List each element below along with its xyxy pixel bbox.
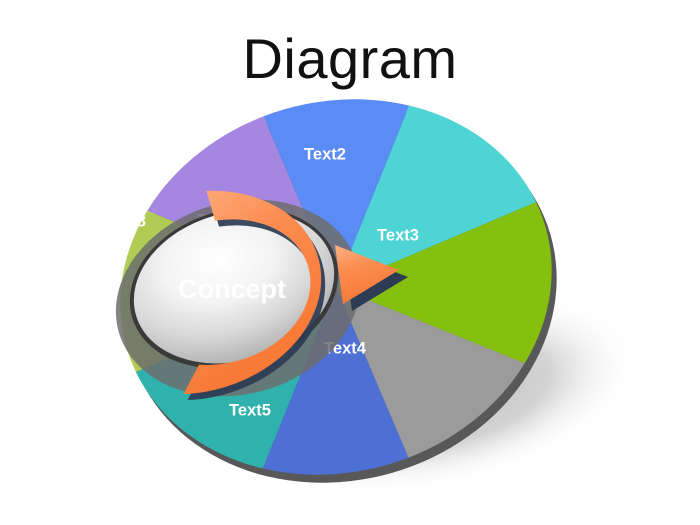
segment-label-6: Text6 [112, 403, 154, 421]
segment-label-2: Text2 [304, 145, 346, 163]
center-concept-label: Concept [178, 274, 286, 304]
segment-label-8: Text8 [104, 212, 146, 230]
segment-label-3: Text3 [377, 226, 419, 244]
cycle-diagram: Text1 Text2 Text3 Text4 Text5 Text6 Text… [0, 95, 700, 515]
page-title: Diagram [0, 28, 700, 90]
slide-canvas: Diagram [0, 0, 700, 525]
segment-label-5: Text5 [229, 401, 271, 419]
segment-label-7: Text7 [41, 321, 83, 339]
